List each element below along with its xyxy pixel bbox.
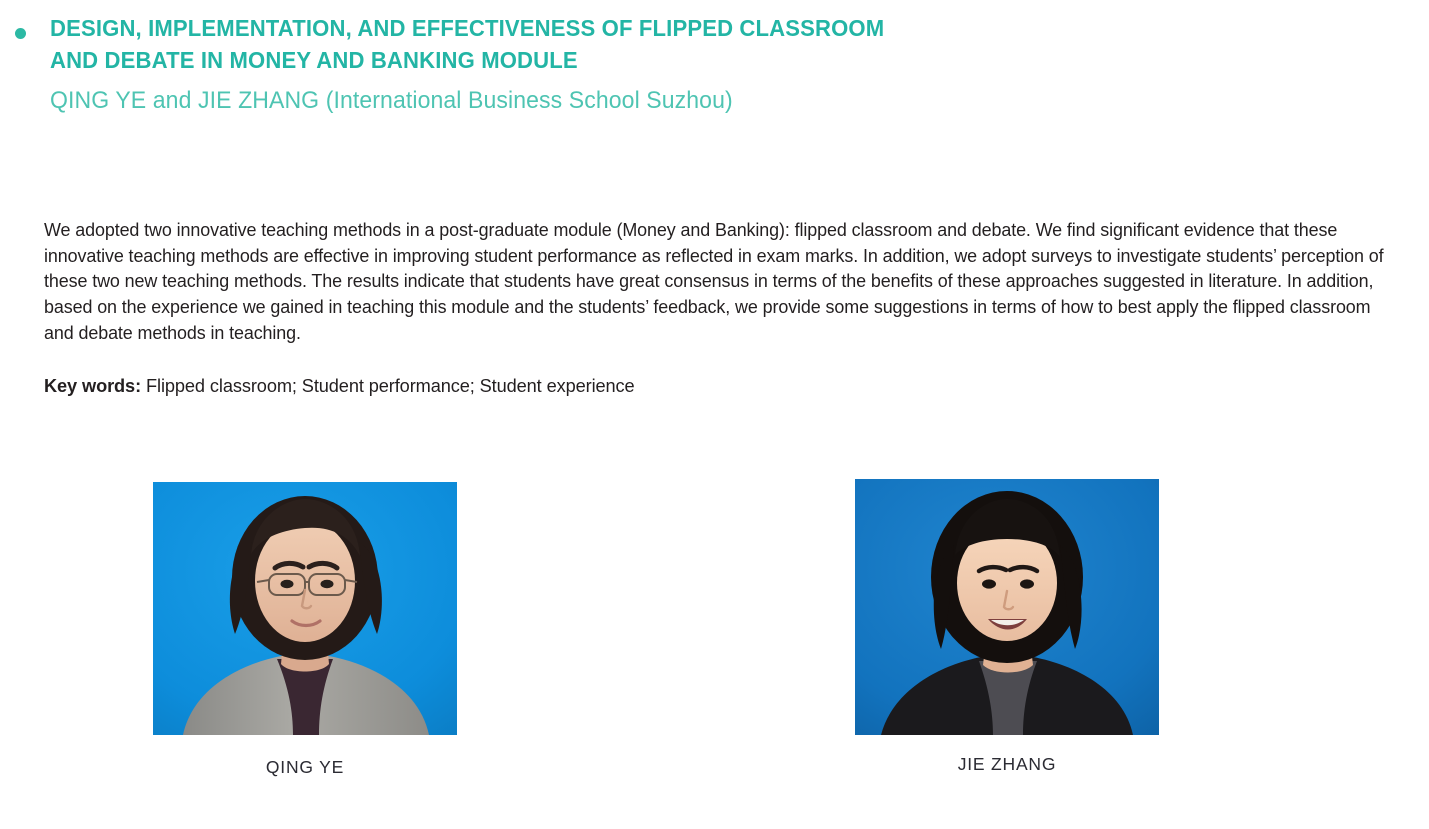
author-photo-card-1: QING YE [153, 482, 457, 778]
author-photo-card-2: JIE ZHANG [855, 479, 1159, 775]
portrait-photo-qing-ye [153, 482, 457, 735]
author-photo-gallery: QING YE [0, 0, 1429, 829]
abstract-page: DESIGN, IMPLEMENTATION, AND EFFECTIVENES… [0, 0, 1429, 829]
portrait-photo-jie-zhang [855, 479, 1159, 735]
photo-caption-1: QING YE [153, 735, 457, 778]
photo-caption-2: JIE ZHANG [855, 735, 1159, 775]
